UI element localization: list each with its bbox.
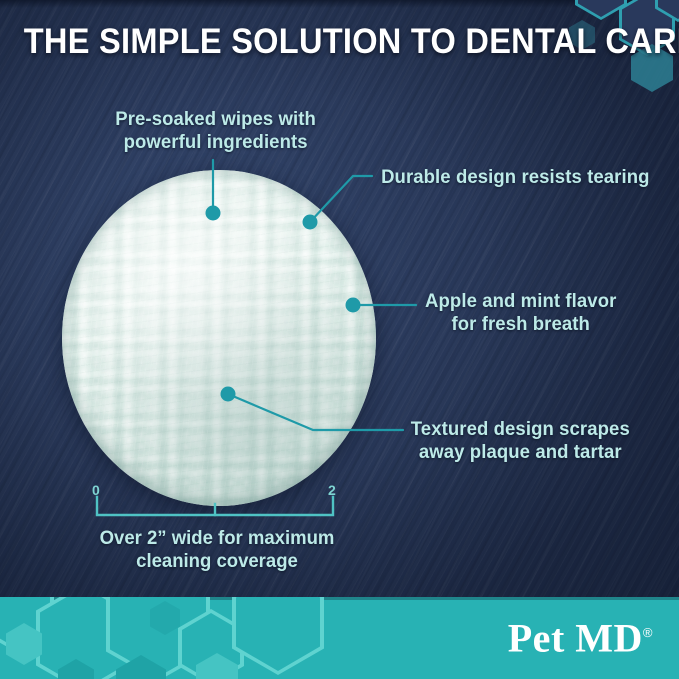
ruler-label-start: 0 [92,482,100,498]
ruler-caption: Over 2” wide for maximum cleaning covera… [60,527,374,573]
infographic-canvas: THE SIMPLE SOLUTION TO DENTAL CARE Pre-s… [0,0,679,679]
hexagon-outline-icon [232,597,324,675]
brand-logo-text: Pet MD [508,616,643,661]
brand-footer: Pet MD® [0,597,679,679]
ruler-label-end: 2 [328,482,336,498]
registered-trademark-mark: ® [643,625,653,640]
measurement-ruler [0,0,679,679]
brand-logo: Pet MD® [508,615,653,662]
